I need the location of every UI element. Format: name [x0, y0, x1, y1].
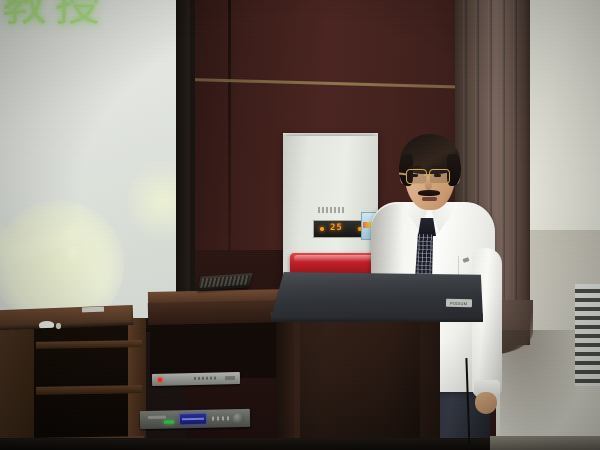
rack-unit-top[interactable]	[152, 372, 240, 386]
status-led-icon	[164, 420, 174, 423]
wall-baseboard	[490, 436, 600, 450]
lcd-display	[180, 414, 206, 425]
cabinet-latch[interactable]	[56, 323, 61, 329]
av-cabinet-post	[128, 318, 146, 450]
photograph-lecture-hall: 教授 25	[0, 0, 600, 450]
grille-louvers	[575, 284, 600, 386]
rack-unit-port	[225, 376, 235, 380]
lectern-brand-plate: PODIUM	[446, 299, 472, 308]
rack-unit-label	[194, 376, 218, 380]
cabinet-handle[interactable]	[39, 321, 54, 329]
presenter-hand-right	[475, 392, 497, 414]
volume-dial[interactable]	[233, 413, 244, 424]
screen-edge-right	[176, 0, 190, 322]
lectern-brand-text: PODIUM	[450, 300, 467, 305]
tie-knot	[418, 218, 436, 236]
display-temperature-value: 25	[330, 224, 343, 233]
rack-button-row[interactable]	[212, 416, 232, 420]
presenter-arm-right	[472, 248, 502, 398]
mouth	[422, 197, 437, 201]
projection-screen: 教授	[0, 0, 176, 318]
lectern-front-shadow	[300, 320, 420, 450]
slide-blob	[62, 245, 82, 261]
glasses-bridge-icon	[424, 174, 431, 176]
chair-highlight	[294, 255, 379, 262]
rack-unit-brand	[148, 416, 166, 419]
projection-screen-frame: 教授	[0, 0, 195, 330]
display-indicator-left-icon	[320, 227, 324, 231]
power-led-icon	[158, 378, 162, 382]
air-conditioner-brand-mark	[318, 207, 346, 213]
lectern-top-surface[interactable]	[271, 272, 483, 318]
keyboard-keys	[200, 275, 250, 288]
slide-title-text: 教授	[2, 0, 108, 27]
slide-blob	[128, 160, 176, 242]
air-conditioner-grille	[575, 284, 600, 386]
cabinet-label-sticker	[82, 307, 104, 313]
glasses-lens-left-icon	[406, 169, 427, 184]
lcd-text-line	[182, 418, 204, 420]
glasses-lens-right-icon	[429, 169, 450, 184]
rack-unit-bottom[interactable]	[140, 409, 250, 429]
av-cabinet-side-panel	[0, 322, 34, 450]
lectern-body-side	[276, 318, 294, 450]
mustache	[418, 190, 440, 196]
nose	[425, 178, 432, 190]
